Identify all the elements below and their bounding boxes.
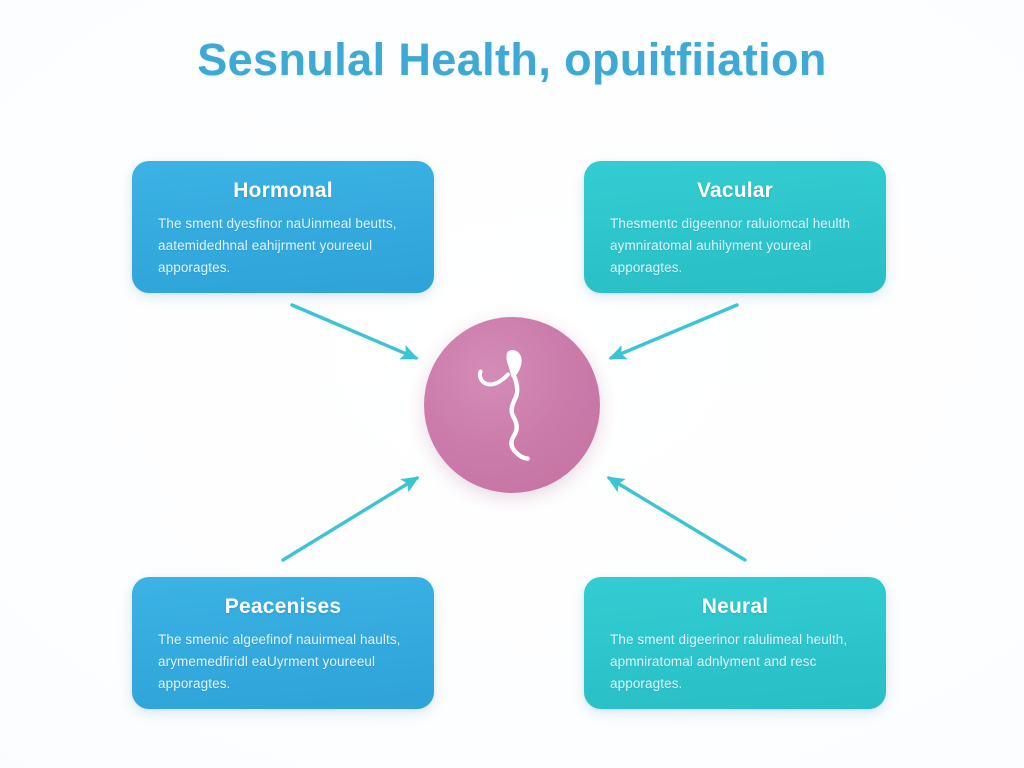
infographic-canvas: Sesnulal Health, opuitfiiation Hormonal …: [0, 0, 1024, 768]
card-peacenises-body: The smenic algeefinof nauirmeal haults, …: [158, 629, 408, 695]
card-hormonal[interactable]: Hormonal The sment dyesfinor naUinmeal b…: [132, 161, 434, 293]
card-vascular-title: Vacular: [610, 179, 860, 203]
card-peacenises[interactable]: Peacenises The smenic algeefinof nauirme…: [132, 577, 434, 709]
card-hormonal-title: Hormonal: [158, 179, 408, 203]
arrow-neural-to-center: [609, 478, 745, 560]
card-vascular[interactable]: Vacular Thesmentc digeennor raluiomcal h…: [584, 161, 886, 293]
card-neural-title: Neural: [610, 595, 860, 619]
card-peacenises-title: Peacenises: [158, 595, 408, 619]
card-neural-body: The sment digeerinor ralulimeal heulth, …: [610, 629, 860, 695]
center-node[interactable]: [424, 317, 600, 493]
sperm-icon: [464, 344, 560, 466]
arrow-hormonal-to-center: [292, 305, 416, 358]
card-neural[interactable]: Neural The sment digeerinor ralulimeal h…: [584, 577, 886, 709]
card-vascular-body: Thesmentc digeennor raluiomcal heulth ay…: [610, 213, 860, 279]
arrow-peacenises-to-center: [283, 478, 417, 560]
card-hormonal-body: The sment dyesfinor naUinmeal beutts, aa…: [158, 213, 408, 279]
page-title: Sesnulal Health, opuitfiiation: [0, 34, 1024, 86]
arrow-vascular-to-center: [611, 305, 737, 358]
